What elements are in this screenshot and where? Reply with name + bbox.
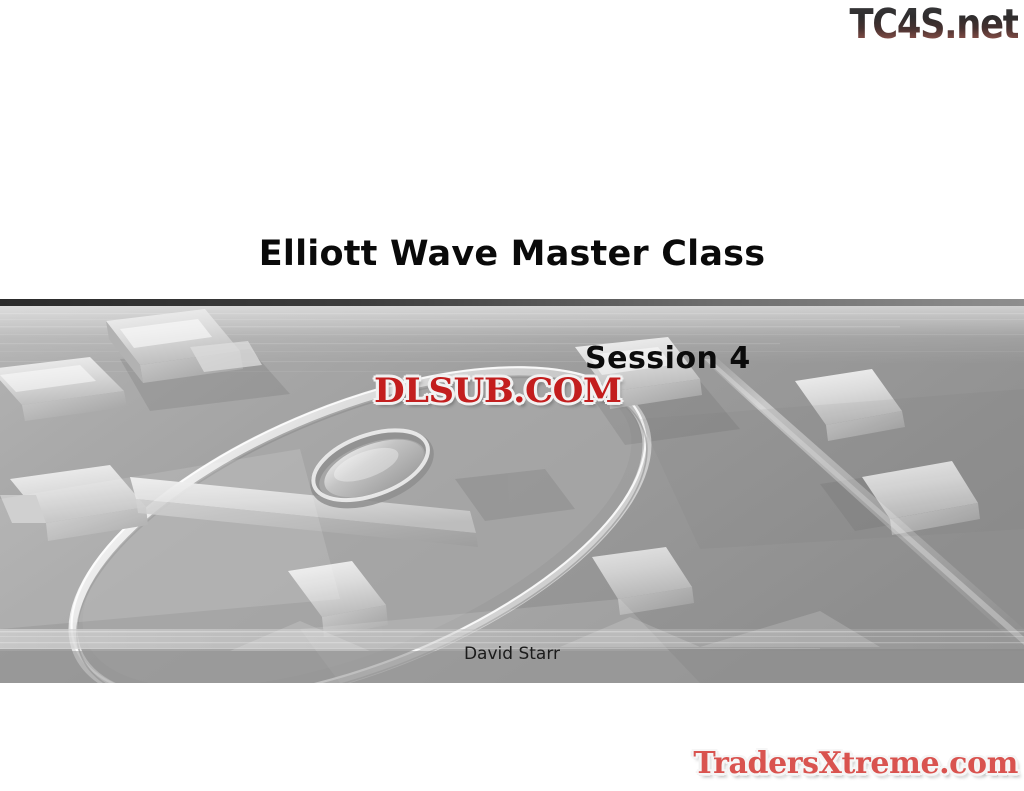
presentation-slide: TC4S.net Elliott Wave Master Class bbox=[0, 0, 1024, 791]
tc4s-site-logo[interactable]: TC4S.net bbox=[849, 2, 1018, 46]
abstract-background-band bbox=[0, 299, 1024, 683]
presenter-name: David Starr bbox=[0, 644, 1024, 664]
dlsub-watermark: DLSUB.COM bbox=[374, 371, 622, 411]
slide-title: Elliott Wave Master Class bbox=[0, 234, 1024, 274]
abstract-3d-ring-graphic bbox=[0, 299, 1024, 683]
tradersxtreme-watermark[interactable]: TradersXtreme.com bbox=[693, 746, 1018, 782]
